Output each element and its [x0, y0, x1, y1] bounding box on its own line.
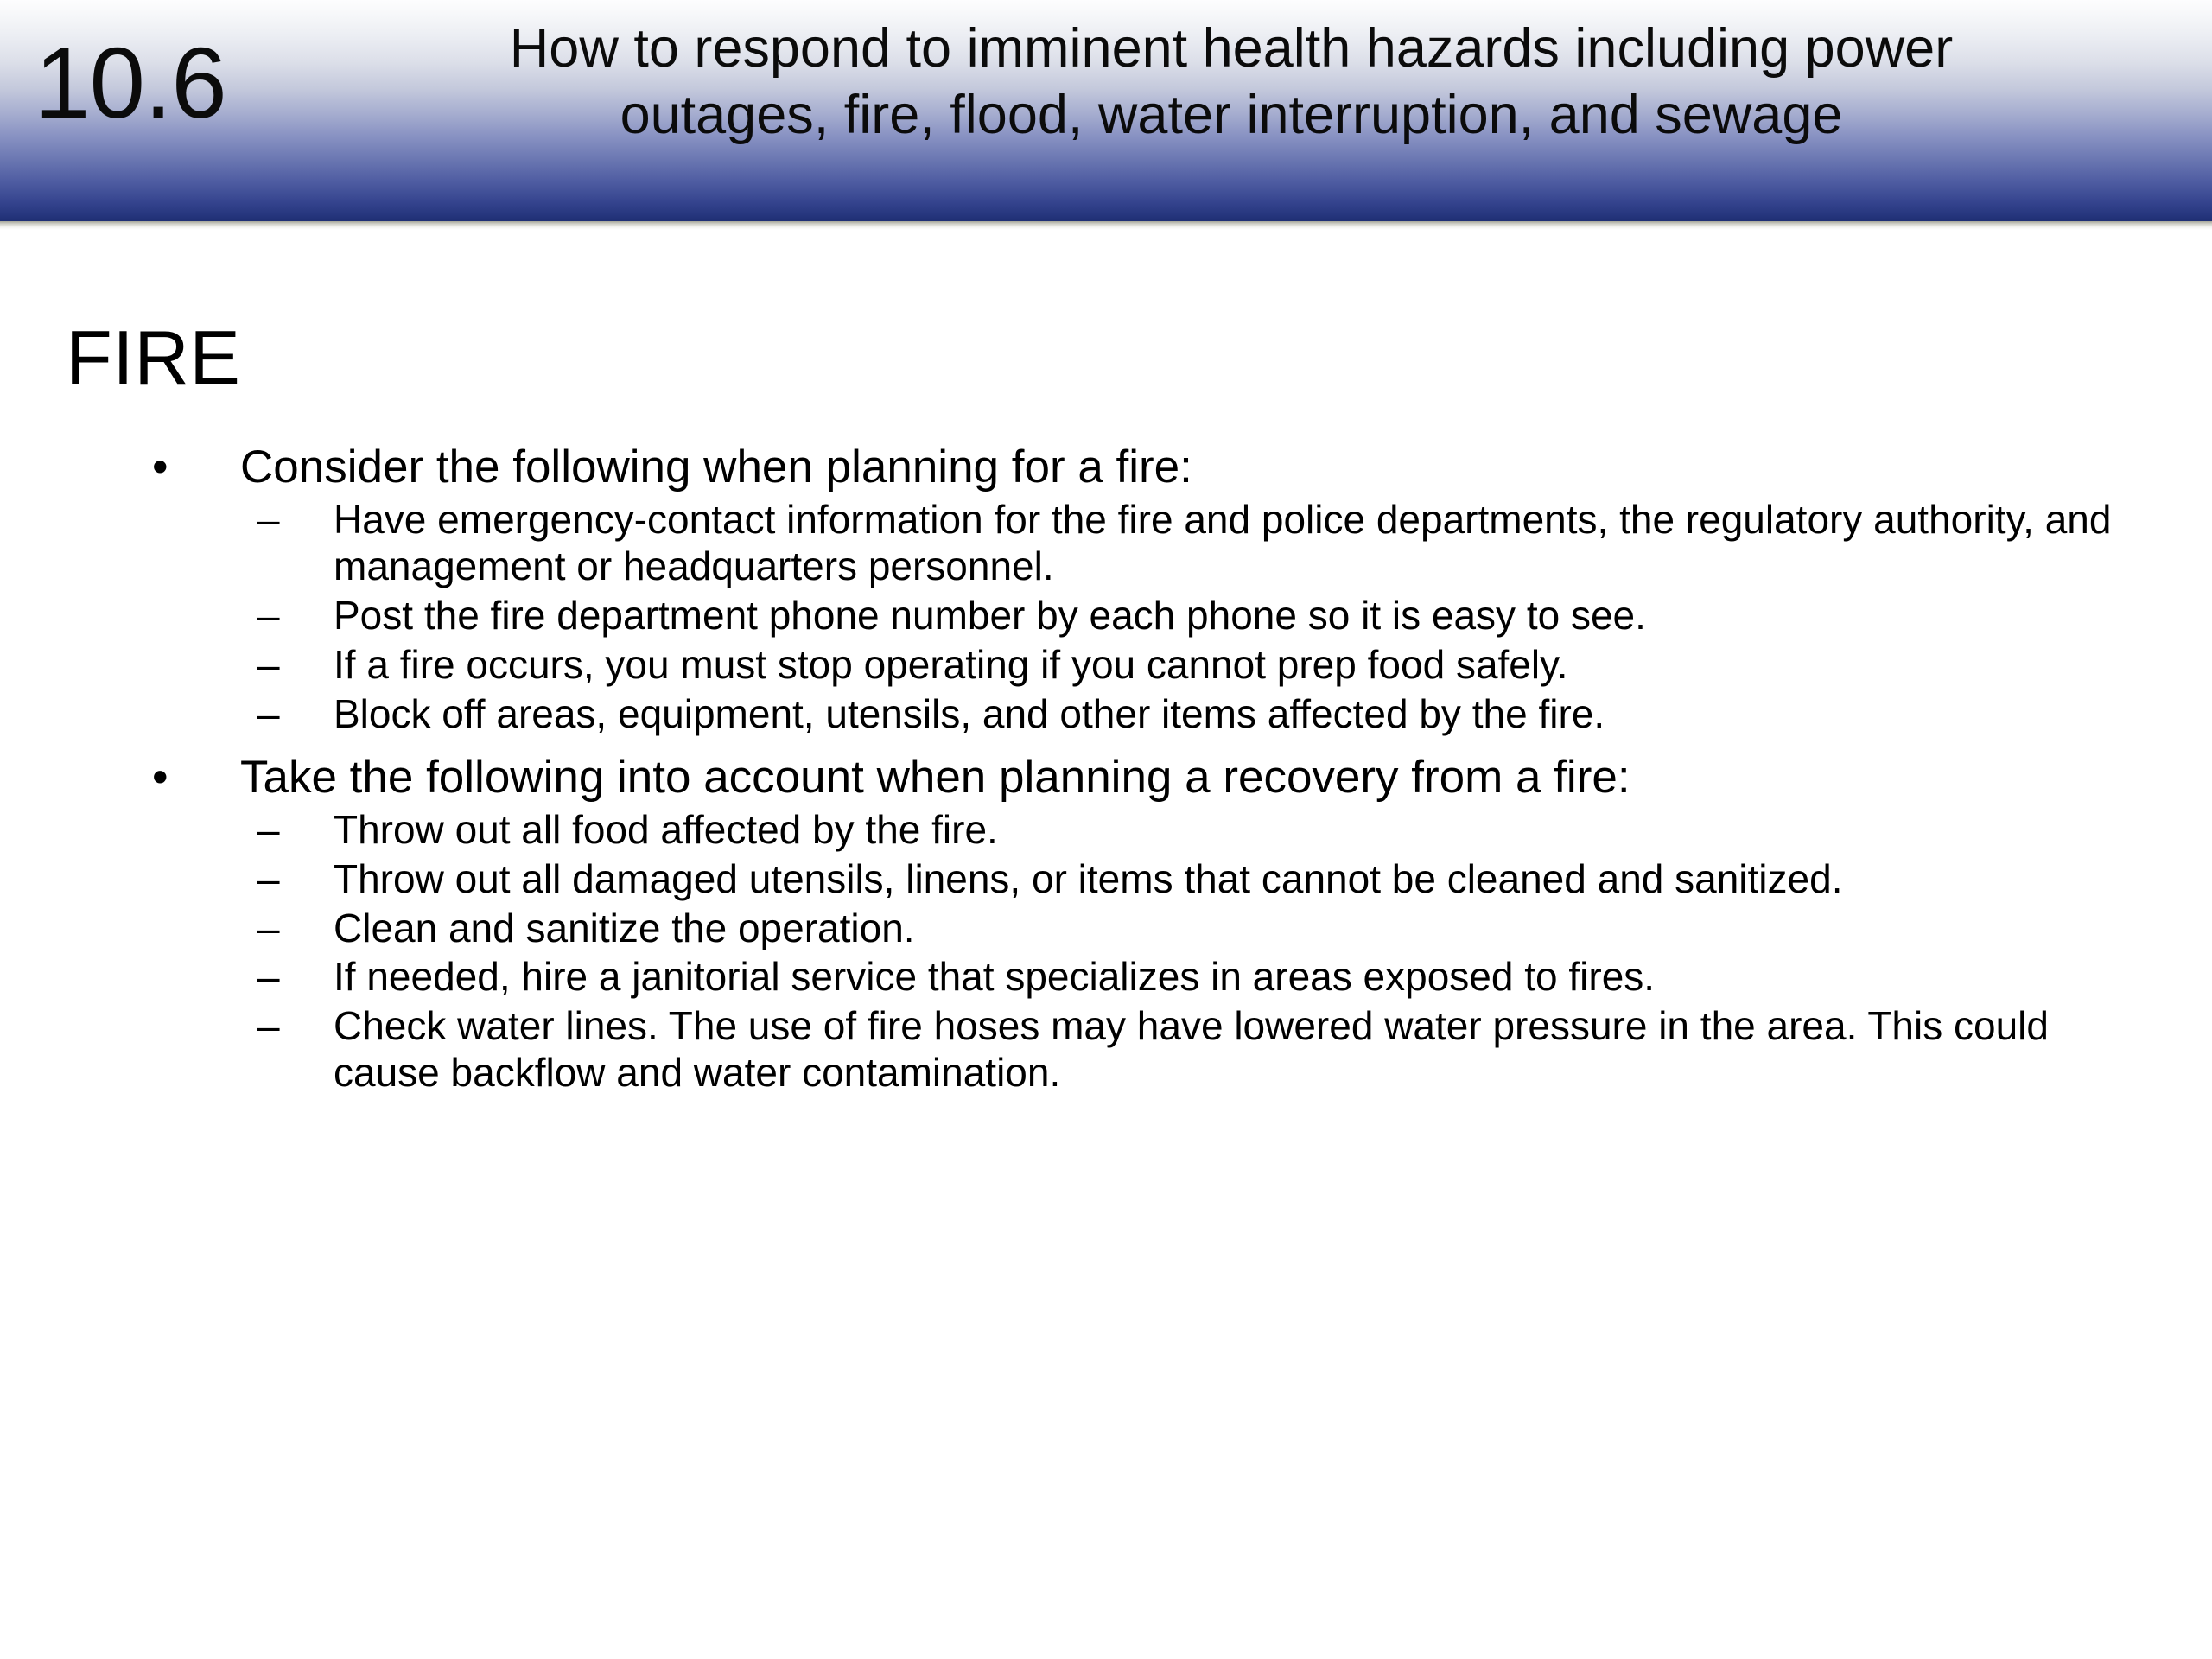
slide-title-line-2: outages, fire, flood, water interruption… [285, 82, 2177, 149]
bullet-level2: –If a fire occurs, you must stop operati… [0, 642, 2212, 689]
bullet-level2-text: If needed, hire a janitorial service tha… [334, 954, 1655, 999]
bullet-level2: –Clean and sanitize the operation. [0, 906, 2212, 952]
bullet-level2-text: Post the fire department phone number by… [334, 593, 1646, 638]
bullet-level2: –Throw out all damaged utensils, linens,… [0, 856, 2212, 903]
bullet-level1-text: Consider the following when planning for… [240, 442, 1192, 493]
bullet-level2-text: Block off areas, equipment, utensils, an… [334, 691, 1605, 736]
bullet-level2: –Block off areas, equipment, utensils, a… [0, 691, 2212, 738]
header-drop-shadow [0, 221, 2212, 230]
chapter-number: 10.6 [35, 9, 294, 133]
slide-header-banner: 10.6 How to respond to imminent health h… [0, 0, 2212, 221]
bullet-marker-dash-icon: – [257, 856, 301, 903]
bullet-marker-dash-icon: – [257, 497, 301, 543]
section-heading-fire: FIRE [66, 320, 240, 396]
bullet-marker-dash-icon: – [257, 954, 301, 1001]
bullet-level2-text: Clean and sanitize the operation. [334, 906, 915, 950]
slide-title-line-1: How to respond to imminent health hazard… [285, 16, 2177, 82]
bullet-level1-text: Take the following into account when pla… [240, 752, 1630, 803]
slide-body: FIRE •Consider the following when planni… [0, 230, 2212, 1659]
bullet-level2: –Check water lines. The use of fire hose… [0, 1003, 2212, 1096]
bullet-marker-dash-icon: – [257, 642, 301, 689]
bullet-marker-dash-icon: – [257, 593, 301, 639]
bullet-level2-text: Throw out all food affected by the fire. [334, 807, 998, 852]
bullet-marker-dash-icon: – [257, 807, 301, 854]
bullet-marker-dash-icon: – [257, 691, 301, 738]
bullet-marker-dot-icon: • [152, 441, 187, 493]
bullet-level1: •Consider the following when planning fo… [0, 441, 2212, 493]
bullet-level2-text: Throw out all damaged utensils, linens, … [334, 856, 1842, 901]
bullet-level2-text: Check water lines. The use of fire hoses… [334, 1003, 2049, 1095]
bullet-marker-dash-icon: – [257, 1003, 301, 1050]
bullet-level2: –Have emergency-contact information for … [0, 497, 2212, 590]
group-spacer [0, 741, 2212, 751]
bullet-list: •Consider the following when planning fo… [0, 441, 2212, 1099]
bullet-level2-text: Have emergency-contact information for t… [334, 497, 2111, 588]
bullet-level2: –If needed, hire a janitorial service th… [0, 954, 2212, 1001]
bullet-level1: •Take the following into account when pl… [0, 751, 2212, 804]
slide-header-inner: 10.6 How to respond to imminent health h… [0, 0, 2212, 221]
slide-title: How to respond to imminent health hazard… [285, 16, 2177, 149]
bullet-marker-dot-icon: • [152, 751, 187, 804]
bullet-level2: –Throw out all food affected by the fire… [0, 807, 2212, 854]
bullet-level2: –Post the fire department phone number b… [0, 593, 2212, 639]
bullet-level2-text: If a fire occurs, you must stop operatin… [334, 642, 1567, 687]
bullet-marker-dash-icon: – [257, 906, 301, 952]
